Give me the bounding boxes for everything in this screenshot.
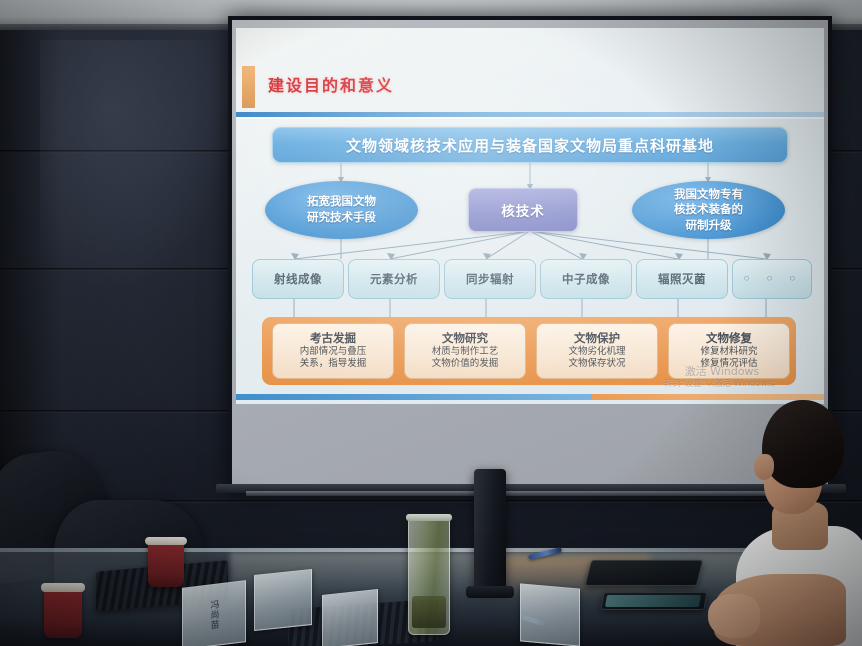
presentation-slide: 建设目的和意义 文物领域核技术应用与装备国家文物局重点科研基地 xyxy=(236,28,824,404)
app-box-archaeological-excavation: 考古发掘 内部情况与叠压 关系，指导发掘 xyxy=(272,323,394,379)
title-divider-highlight xyxy=(236,117,824,119)
seated-attendee xyxy=(742,398,862,646)
screen-roller xyxy=(246,491,806,496)
cup-lid xyxy=(41,583,85,592)
tech-box-irradiation-sterilization: 辐照灭菌 xyxy=(636,259,728,299)
cup-lid xyxy=(145,537,187,545)
goal-node-right: 我国文物专有 核技术装备的 研制升级 xyxy=(632,181,785,239)
tech-box-neutron-imaging: 中子成像 xyxy=(540,259,632,299)
nameplate: 冯尚苗 xyxy=(182,580,246,646)
center-node-nuclear-technology: 核技术 xyxy=(468,188,578,232)
nameplate xyxy=(254,569,312,631)
nameplate xyxy=(322,589,378,646)
tea-leaves xyxy=(412,596,446,628)
tablet-device xyxy=(585,560,703,586)
person-hair xyxy=(762,400,844,488)
paper-coffee-cup xyxy=(44,588,82,638)
slide-title: 建设目的和意义 xyxy=(268,72,394,96)
black-thermos xyxy=(474,469,506,591)
wall-sheen xyxy=(40,40,240,300)
thermos-base xyxy=(466,586,514,598)
main-banner: 文物领域核技术应用与装备国家文物局重点科研基地 xyxy=(272,127,788,163)
title-accent-bar xyxy=(242,66,255,108)
main-banner-label: 文物领域核技术应用与装备国家文物局重点科研基地 xyxy=(346,135,714,156)
goal-right-label: 我国文物专有 核技术装备的 研制升级 xyxy=(674,187,743,234)
technology-row: 射线成像 元素分析 同步辐射 中子成像 辐照灭菌 ◦ ◦ ◦ xyxy=(248,259,812,299)
tech-box-element-analysis: 元素分析 xyxy=(348,259,440,299)
tablet-screen xyxy=(605,595,701,607)
nameplate xyxy=(520,583,580,646)
goal-left-label: 拓宽我国文物 研究技术手段 xyxy=(307,194,376,225)
paper-coffee-cup xyxy=(148,541,184,587)
windows-activation-watermark: 激活 Windows 转到"设置"以激活 Windows。 xyxy=(624,365,820,390)
tech-box-xray-imaging: 射线成像 xyxy=(252,259,344,299)
person-hand xyxy=(708,594,760,638)
tech-box-synchrotron-radiation: 同步辐射 xyxy=(444,259,536,299)
goal-node-left: 拓宽我国文物 研究技术手段 xyxy=(265,181,418,239)
person-ear xyxy=(754,454,774,480)
slide-footer-blue xyxy=(236,394,592,400)
center-node-label: 核技术 xyxy=(501,200,545,220)
app-box-relic-research: 文物研究 材质与制作工艺 文物价值的发掘 xyxy=(404,323,526,379)
tech-box-ellipsis: ◦ ◦ ◦ xyxy=(732,259,812,299)
conference-room-photo: 建设目的和意义 文物领域核技术应用与装备国家文物局重点科研基地 xyxy=(0,0,862,646)
tumbler-lid xyxy=(406,514,452,521)
